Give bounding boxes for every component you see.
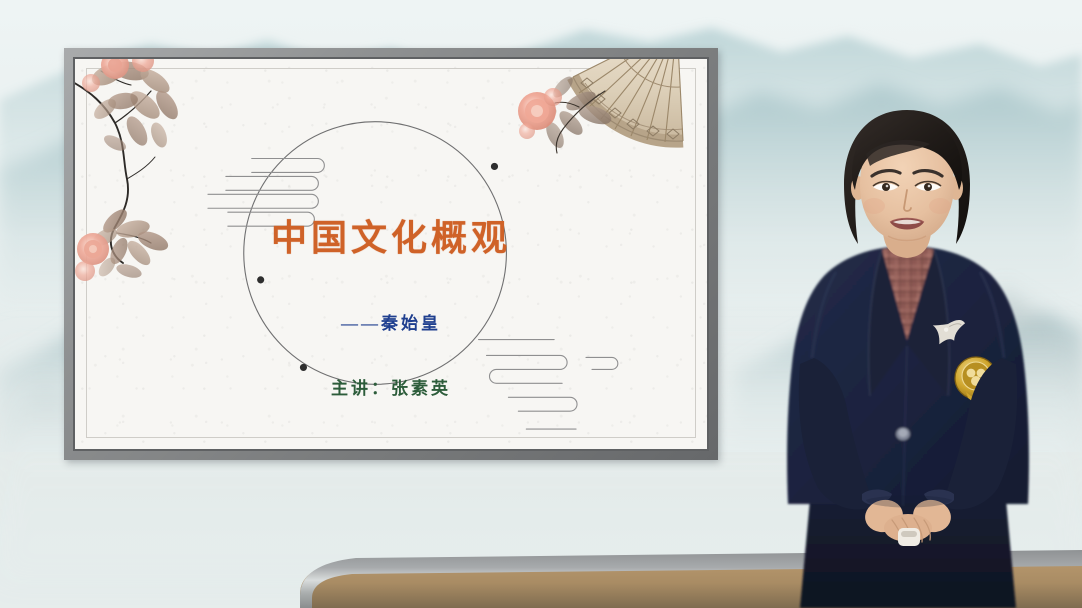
instructor (770, 96, 1045, 608)
folding-fan-decoration (509, 59, 707, 197)
presenter-head (844, 110, 970, 244)
slide-presenter-line: 主讲：张素英 (75, 374, 707, 399)
slide-title: 中国文化概观 (75, 209, 707, 261)
peony-flower-decoration (518, 73, 614, 153)
slide-subtitle: ——秦始皇 (75, 309, 707, 334)
slide-bezel: 中国文化概观 ——秦始皇 主讲：张素英 (73, 57, 709, 451)
flowering-branch-decoration (75, 59, 203, 305)
presentation-slide[interactable]: 中国文化概观 ——秦始皇 主讲：张素英 (75, 59, 707, 449)
presentation-slide-frame[interactable]: 中国文化概观 ——秦始皇 主讲：张素英 (64, 48, 718, 460)
studio-stage: 中国文化概观 ——秦始皇 主讲：张素英 (0, 0, 1082, 608)
